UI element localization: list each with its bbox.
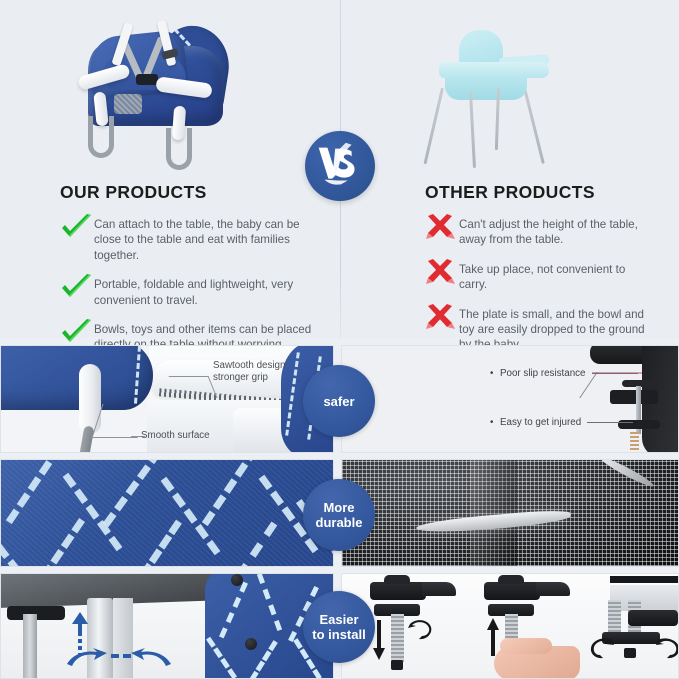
badge-line-2: durable xyxy=(316,515,363,530)
clamp-screw-tip xyxy=(391,660,403,670)
rotate-arrow-left-icon xyxy=(590,636,614,665)
red-cross-icon xyxy=(425,258,459,286)
clamp-jaw-extension xyxy=(536,582,570,596)
green-check-icon xyxy=(60,273,94,301)
clamp-screw xyxy=(391,614,404,662)
other-product-photo xyxy=(341,0,679,180)
other-install-diagram-photo xyxy=(341,573,679,679)
red-cross-icon xyxy=(425,213,459,241)
bullet-dot-icon: • xyxy=(490,417,500,428)
install-step-1 xyxy=(366,574,466,678)
other-callout-text: Poor slip resistance xyxy=(500,368,586,379)
our-products-item: Portable, foldable and lightweight, very… xyxy=(60,275,312,308)
badge-easier-to-install-label: Easier to install xyxy=(312,612,365,642)
table-surface-edge xyxy=(610,576,679,583)
sawtooth-callout-line2: stronger grip xyxy=(213,372,285,384)
leader-line xyxy=(592,373,638,374)
other-product-callouts: •Poor slip resistance •Easy to get injur… xyxy=(490,368,638,453)
badge-safer-label: safer xyxy=(323,394,354,409)
clamp-cap xyxy=(498,575,524,584)
sawtooth-callout-label: Sawtooth design stronger grip xyxy=(213,360,285,384)
rotation-arrows-icon xyxy=(63,648,173,674)
chair-leg-2 xyxy=(469,92,476,168)
hand-illustration xyxy=(494,646,580,679)
other-clamp-detail-photo: •Poor slip resistance •Easy to get injur… xyxy=(341,345,679,453)
other-fabric-closeup-photo xyxy=(341,459,679,567)
callout-leader-smooth xyxy=(91,404,148,438)
clamp-screw-tip xyxy=(624,648,636,658)
rotate-arrow-icon xyxy=(408,618,434,647)
other-products-column: OTHER PRODUCTS Can't adjust the height o… xyxy=(341,182,679,365)
rotate-arrow-right-icon xyxy=(656,636,679,665)
red-cross-icon xyxy=(425,303,459,331)
table-leg-thin xyxy=(23,614,37,679)
badge-easier-to-install: Easier to install xyxy=(303,591,375,663)
comparison-panel: OUR PRODUCTS Can attach to the table, th… xyxy=(0,0,679,338)
metal-hook-right xyxy=(166,128,192,170)
sawtooth-callout-line1: Sawtooth design xyxy=(213,360,285,372)
our-products-item-text: Can attach to the table, the baby can be… xyxy=(94,215,312,263)
other-products-item-text: Can't adjust the height of the table, aw… xyxy=(459,215,649,248)
chair-leg-4 xyxy=(523,88,545,164)
clamp-jaw xyxy=(484,582,540,600)
other-products-item: Can't adjust the height of the table, aw… xyxy=(425,215,649,248)
other-callout-item: •Poor slip resistance xyxy=(490,368,638,379)
our-products-title: OUR PRODUCTS xyxy=(60,182,312,203)
green-check-icon xyxy=(60,318,94,346)
other-products-title: OTHER PRODUCTS xyxy=(425,182,649,203)
snap-button xyxy=(231,574,243,586)
standing-high-chair-illustration xyxy=(411,22,601,170)
up-arrow-icon xyxy=(486,618,500,661)
our-product-photo xyxy=(0,0,340,180)
hook-rod xyxy=(78,425,95,453)
badge-line-2: to install xyxy=(312,627,365,642)
chair-leg-1 xyxy=(423,88,443,165)
our-install-diagram-photo xyxy=(0,573,334,679)
our-products-item-text: Portable, foldable and lightweight, very… xyxy=(94,275,312,308)
bullet-dot-icon: • xyxy=(490,368,500,379)
install-step-3 xyxy=(594,574,679,678)
badge-more-durable: More durable xyxy=(303,479,375,551)
install-step-2 xyxy=(480,574,590,678)
clamp-jaw xyxy=(628,610,678,626)
metal-hook-left xyxy=(88,116,114,158)
seat-mesh-pocket xyxy=(114,94,142,114)
other-callout-item: •Easy to get injured xyxy=(490,417,638,428)
product-comparison-infographic: OUR PRODUCTS Can attach to the table, th… xyxy=(0,0,679,679)
hook-on-booster-seat-illustration xyxy=(58,18,273,170)
other-products-item: Take up place, not convenient to carry. xyxy=(425,260,649,293)
our-clamp-detail-photo: Sawtooth design stronger grip Smooth sur… xyxy=(0,345,334,453)
other-products-item-text: Take up place, not convenient to carry. xyxy=(459,260,649,293)
badge-line-1: Easier xyxy=(319,612,358,627)
badge-safer: safer xyxy=(303,365,375,437)
snap-button xyxy=(245,638,257,650)
chair-tray xyxy=(439,62,549,78)
denim-seat-edge-left xyxy=(0,345,153,410)
our-fabric-closeup-photo xyxy=(0,459,334,567)
clamp-jaw xyxy=(370,582,426,600)
clamp-cap xyxy=(384,575,410,584)
other-callout-text: Easy to get injured xyxy=(500,417,581,428)
leader-line xyxy=(587,422,633,423)
our-products-item: Can attach to the table, the baby can be… xyxy=(60,215,312,263)
green-check-icon xyxy=(60,213,94,241)
harness-buckle xyxy=(136,74,158,85)
up-arrow-icon xyxy=(71,612,87,652)
badge-line-1: More xyxy=(323,500,354,515)
clamp-jaw-extension xyxy=(422,582,456,596)
badge-more-durable-label: More durable xyxy=(316,500,363,530)
smooth-surface-callout-label: Smooth surface xyxy=(141,430,210,441)
callout-leader-sawtooth xyxy=(169,376,218,398)
